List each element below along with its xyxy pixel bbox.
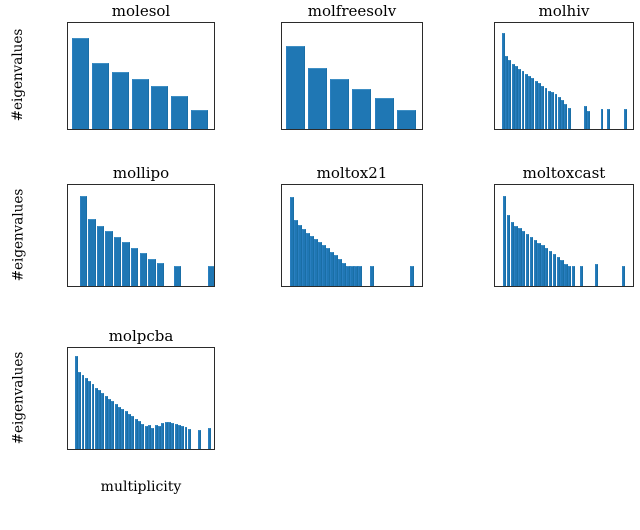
y-tick-mark [67, 413, 68, 414]
y-axis-label-molpcba: #eigenvalues [10, 336, 26, 459]
bar [188, 429, 191, 449]
bar [208, 428, 211, 449]
bar [198, 430, 201, 449]
panel-title-molpcba: molpcba [7, 327, 275, 345]
x-axis-label-molpcba: multiplicity [67, 479, 215, 495]
x-tick-mark [155, 449, 156, 450]
panel-molpcba: molpcba10⁻¹10²10⁵025#eigenvaluesmultipli… [0, 0, 640, 530]
bars-molpcba [68, 348, 214, 449]
figure-multiplicity-eigenvalue-histograms: molesol10⁻¹10¹10³2.55.07.5#eigenvaluesmo… [0, 0, 640, 530]
x-tick-mark [72, 449, 73, 450]
y-tick-mark [67, 376, 68, 377]
plot-area-molpcba: 10⁻¹10²10⁵025 [67, 347, 215, 450]
